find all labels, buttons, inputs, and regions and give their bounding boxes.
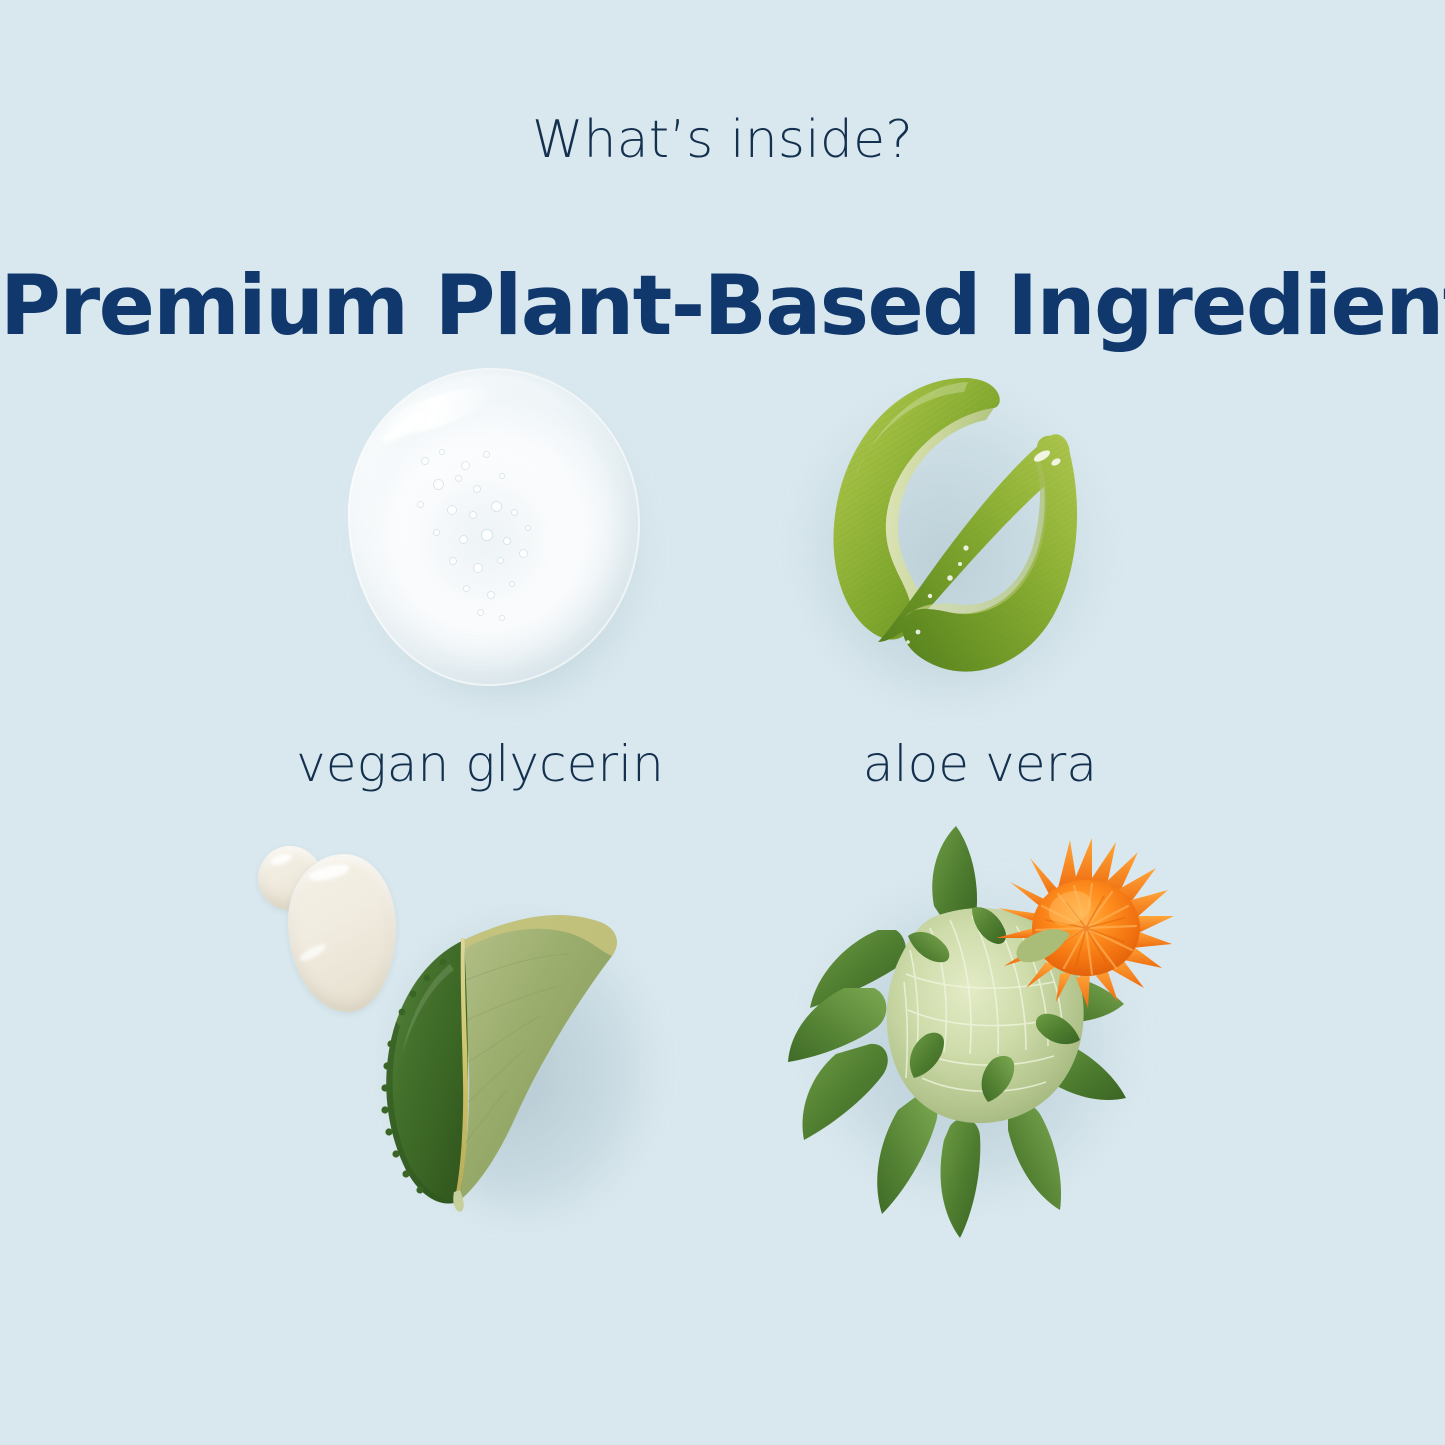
aloe-rind-curls-icon <box>780 350 1110 700</box>
ingredient-label-vegan-glycerin: vegan glycerin <box>220 735 740 793</box>
ingredient-card-safflower: safflower <box>740 800 1220 1320</box>
ingredient-card-aloe-vera: aloe vera <box>740 340 1220 820</box>
ingredients-infographic: What’s inside? Premium Plant-Based Ingre… <box>0 0 1445 1445</box>
safflower-bud-icon <box>758 810 1178 1240</box>
ingredient-card-green-tea-extract: green tea extract <box>230 820 750 1320</box>
tea-leaf-and-oil-drops-icon <box>250 830 670 1230</box>
safflower-image <box>740 800 1220 1320</box>
safflower-svg <box>758 810 1178 1240</box>
page-title: Premium Plant-Based Ingredients <box>0 262 1445 349</box>
ingredient-label-aloe-vera: aloe vera <box>740 735 1220 793</box>
ingredient-card-vegan-glycerin: vegan glycerin <box>220 350 740 820</box>
tea-leaf-svg <box>250 830 670 1230</box>
aloe-svg <box>780 350 1110 700</box>
gel-droplet-bubbles <box>404 446 584 636</box>
gel-droplet-icon <box>348 368 640 686</box>
ingredient-grid: vegan glycerin <box>0 340 1445 1400</box>
eyebrow-text: What’s inside? <box>0 112 1445 169</box>
green-tea-extract-image <box>230 820 750 1320</box>
